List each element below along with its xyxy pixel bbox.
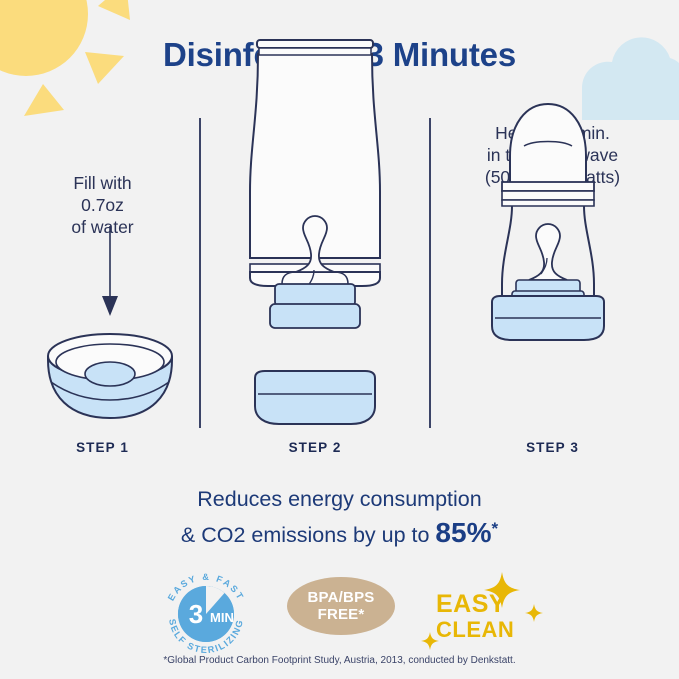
badge-3min-self-sterilizing: EASY & FAST SELF STERILIZING 3 MIN bbox=[158, 566, 254, 658]
badge-bpa-bps-free: BPA/BPS FREE* bbox=[287, 577, 395, 639]
badge-easy-clean: EASY CLEAN bbox=[420, 568, 560, 650]
disassembled-bottle-illustration bbox=[228, 6, 403, 351]
energy-claim: Reduces energy consumption & CO2 emissio… bbox=[0, 485, 679, 550]
badge-row: EASY & FAST SELF STERILIZING 3 MIN BPA/B… bbox=[0, 566, 679, 646]
infographic-canvas: Disinfects in 3 Minutes Fill with 0.7oz … bbox=[0, 0, 679, 679]
step-1-caption-line-2: 0.7oz bbox=[10, 194, 195, 216]
step-2-label: STEP 2 bbox=[205, 440, 425, 455]
badge-easy-clean-line-1: EASY bbox=[436, 592, 514, 617]
claim-line-2: & CO2 emissions by up to 85%* bbox=[0, 514, 679, 550]
step-1-label: STEP 1 bbox=[10, 440, 195, 455]
footnote: *Global Product Carbon Footprint Study, … bbox=[0, 655, 679, 666]
bottle-base-cup-illustration bbox=[247, 368, 383, 433]
water-bowl-illustration bbox=[30, 220, 190, 445]
column-divider-2 bbox=[429, 118, 431, 428]
step-1-caption-line-1: Fill with bbox=[10, 172, 195, 194]
badge-3min-number: 3 bbox=[189, 599, 203, 629]
column-divider-1 bbox=[199, 118, 201, 428]
badge-easy-clean-text: EASY CLEAN bbox=[436, 592, 514, 642]
claim-percentage: 85% bbox=[435, 517, 491, 548]
claim-line-2-prefix: & CO2 emissions by up to bbox=[181, 523, 436, 547]
badge-bpa-line-1: BPA/BPS bbox=[308, 589, 375, 606]
badge-bpa-line-2: FREE* bbox=[318, 606, 365, 623]
claim-line-1: Reduces energy consumption bbox=[0, 485, 679, 514]
badge-easy-clean-line-2: CLEAN bbox=[436, 617, 514, 642]
assembled-bottle-in-base-illustration bbox=[468, 78, 628, 353]
claim-asterisk: * bbox=[491, 519, 498, 538]
step-3-label: STEP 3 bbox=[435, 440, 670, 455]
badge-3min-unit: MIN bbox=[210, 610, 234, 625]
